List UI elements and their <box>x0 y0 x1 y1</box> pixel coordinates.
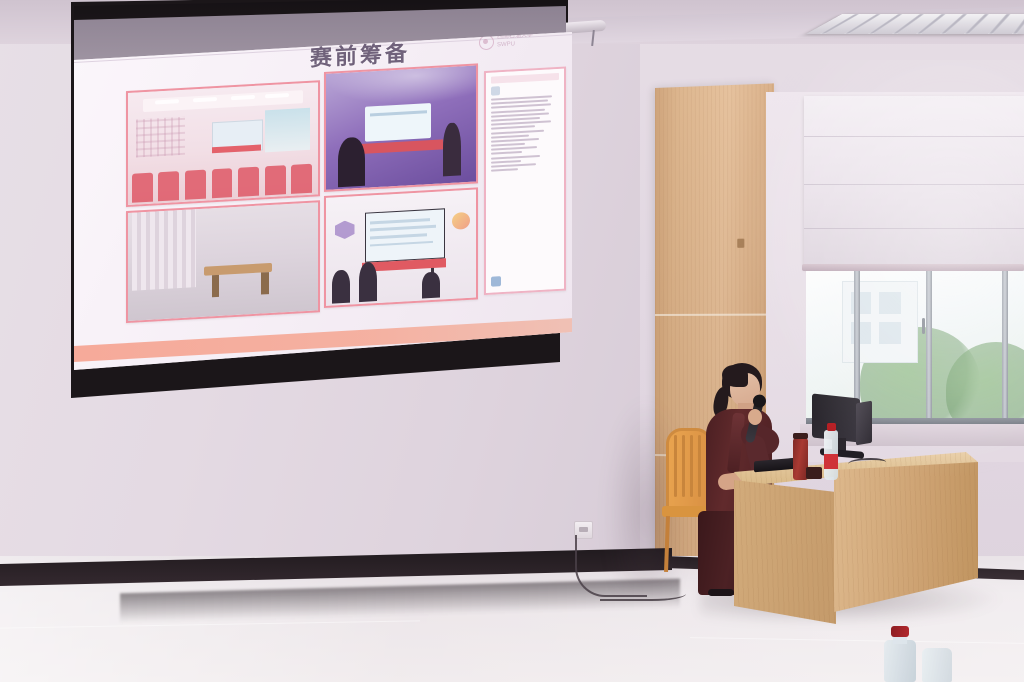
window-latch-handle-icon[interactable] <box>922 318 925 334</box>
room-photo-scene: 赛前筹备 西南石油大学 SWPU <box>0 0 1024 682</box>
cup <box>806 467 822 479</box>
slide-photo-phone-article <box>484 66 566 295</box>
water-bottle <box>824 430 838 480</box>
monitor <box>812 396 872 458</box>
window-roller-blind[interactable] <box>804 96 1024 268</box>
podium-desk <box>726 452 978 628</box>
hand-holding-microphone <box>748 409 762 425</box>
slide-photo-empty-room <box>126 200 320 323</box>
slide-photo-whiteboard <box>324 187 478 308</box>
projection-screen: 赛前筹备 西南石油大学 SWPU <box>44 0 564 406</box>
foreground-water-bottle-secondary <box>922 648 952 682</box>
projected-slide: 赛前筹备 西南石油大学 SWPU <box>74 32 572 370</box>
blind-bottom-rail[interactable] <box>802 264 1024 271</box>
foreground-water-bottle <box>884 630 916 682</box>
slide-photo-auditorium <box>324 63 478 192</box>
desk-cable <box>848 458 886 468</box>
ceiling-light-icon <box>806 14 1024 34</box>
slide-photo-lecture-hall <box>126 80 320 207</box>
